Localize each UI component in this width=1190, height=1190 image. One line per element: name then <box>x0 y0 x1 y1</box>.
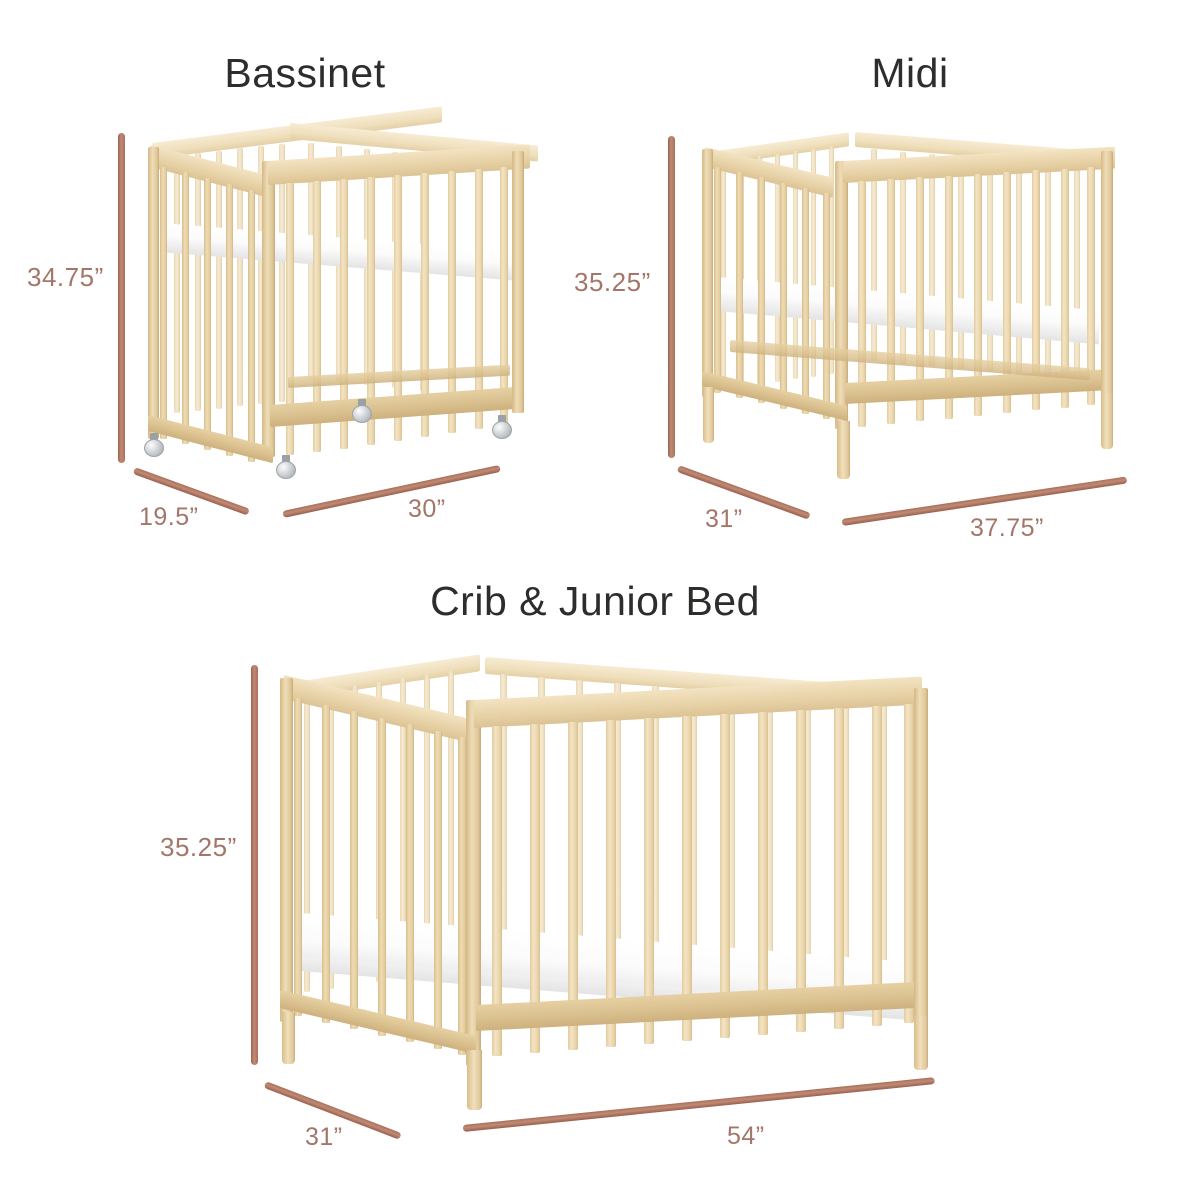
caster-wheel <box>144 433 164 457</box>
midi-leg <box>1101 393 1113 449</box>
height-dimension-label-midi: 35.25” <box>574 267 651 298</box>
width-dimension-label-bassinet: 30” <box>408 495 446 524</box>
width-dimension-label-crib: 54” <box>727 1122 765 1151</box>
height-dimension-line-crib <box>251 665 258 1065</box>
product-panel-crib-junior-bed: Crib & Junior Bed 35.25” 31” 54” <box>0 560 1190 1190</box>
crib-corner-post-right <box>914 688 928 1026</box>
crib-leg <box>914 1016 928 1070</box>
bassinet-corner-post-right <box>512 151 524 413</box>
height-dimension-line-bassinet <box>118 133 125 463</box>
panel-title-crib-junior-bed: Crib & Junior Bed <box>345 578 845 625</box>
height-dimension-label-bassinet: 34.75” <box>27 262 104 293</box>
caster-wheel <box>352 399 372 423</box>
panel-title-bassinet: Bassinet <box>130 50 480 97</box>
width-dimension-line-bassinet <box>282 465 501 518</box>
height-dimension-label-crib: 35.25” <box>160 832 237 863</box>
midi-illustration <box>695 125 1125 475</box>
midi-leg <box>703 387 714 443</box>
crib-leg <box>282 1012 295 1064</box>
product-panel-midi: Midi 35.25” 31” 37.75” <box>595 0 1190 560</box>
depth-dimension-label-bassinet: 19.5” <box>139 503 198 532</box>
caster-wheel <box>276 455 296 479</box>
bassinet-illustration <box>140 115 530 465</box>
width-dimension-label-midi: 37.75” <box>970 514 1044 543</box>
midi-corner-post-right <box>1101 151 1113 401</box>
midi-leg <box>837 421 850 479</box>
midi-front-slats <box>695 125 1125 475</box>
depth-dimension-label-midi: 31” <box>705 505 743 534</box>
dimension-diagram-canvas: Bassinet 34.75” 19.5” 30” <box>0 0 1190 1190</box>
product-panel-bassinet: Bassinet 34.75” 19.5” 30” <box>0 0 600 560</box>
panel-title-midi: Midi <box>745 50 1075 97</box>
height-dimension-line-midi <box>668 136 675 458</box>
caster-wheel <box>492 415 512 439</box>
crib-leg <box>467 1050 482 1110</box>
depth-dimension-label-crib: 31” <box>305 1123 343 1152</box>
width-dimension-line-crib <box>463 1077 935 1132</box>
crib-junior-bed-illustration <box>270 650 950 1080</box>
